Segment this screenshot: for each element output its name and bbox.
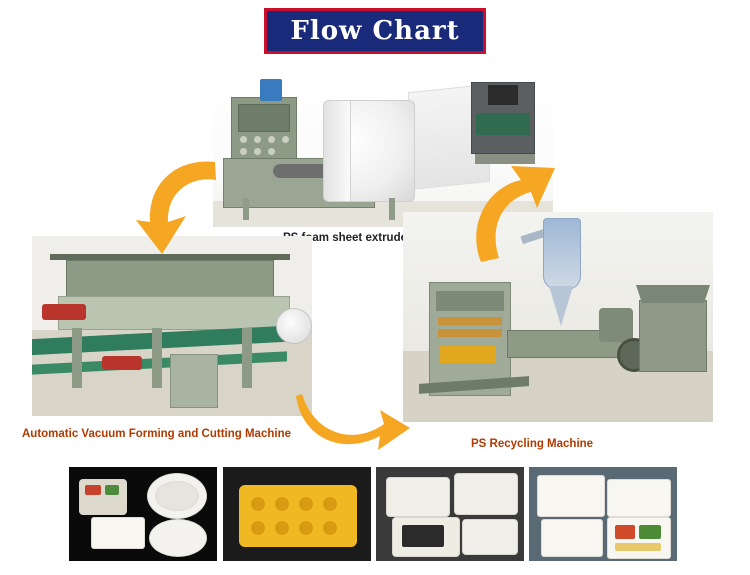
egg-cavity (299, 497, 313, 511)
food-item (85, 485, 101, 495)
product-photo-3 (375, 466, 525, 562)
recycling-button-row (438, 317, 502, 325)
extruder-knob (240, 148, 247, 155)
egg-cavity (323, 497, 337, 511)
extruder-control-panel (238, 104, 290, 132)
forming-control-box (170, 354, 218, 408)
arrow-recycling-to-extruder (455, 158, 565, 268)
tray-insert (402, 525, 444, 547)
foam-lunchbox (537, 475, 605, 517)
extruder-knob (254, 136, 261, 143)
extruder-knob (240, 136, 247, 143)
foam-food-tray (386, 477, 450, 517)
extruder-motor (488, 85, 518, 105)
foam-bowl (149, 519, 207, 557)
arrow-forming-to-recycling (292, 380, 412, 460)
product-photo-2 (222, 466, 372, 562)
photo-automatic-vacuum-forming-and-cutting-machine (32, 236, 312, 416)
forming-support-post (152, 328, 162, 388)
arrow-extruder-to-forming (120, 150, 230, 260)
foam-egg-tray (239, 485, 357, 547)
roll-core (324, 101, 351, 201)
foam-food-tray (462, 519, 518, 555)
recycling-control-screen (436, 291, 504, 311)
extruder-green-panel (476, 113, 530, 135)
foam-plate-divider (155, 481, 199, 511)
extruder-knob (268, 148, 275, 155)
foam-lunchbox (541, 519, 603, 557)
recycling-yellow-panel (440, 345, 496, 363)
egg-cavity (251, 497, 265, 511)
recycling-crusher (639, 300, 707, 372)
forming-mould-bed (58, 296, 290, 330)
recycling-motor (599, 308, 633, 342)
forming-sheet-spool (276, 308, 312, 344)
extruder-legs (243, 198, 395, 220)
foam-sheet-roll (323, 100, 415, 202)
forming-red-roller (102, 356, 142, 370)
foam-lunchbox (607, 479, 671, 517)
extruder-knob (282, 136, 289, 143)
extruder-knob (268, 136, 275, 143)
caption-recycling: PS Recycling Machine (471, 438, 593, 450)
food-item (615, 543, 661, 551)
food-item (639, 525, 661, 539)
forming-red-roller (42, 304, 86, 320)
extruder-knob (254, 148, 261, 155)
egg-cavity (299, 521, 313, 535)
forming-support-post (242, 328, 252, 388)
foam-lunchbox (91, 517, 145, 549)
recycling-crusher-hopper (636, 285, 710, 303)
egg-cavity (323, 521, 337, 535)
page-title: Flow Chart (290, 16, 459, 46)
page-title-box: Flow Chart (264, 8, 486, 54)
extruder-head-unit (471, 82, 535, 154)
product-photo-4 (528, 466, 678, 562)
extruder-hopper (260, 79, 282, 101)
recycling-button-row (438, 329, 502, 337)
extruder-control-cabinet (231, 97, 297, 159)
foam-food-tray (454, 473, 518, 515)
food-item (105, 485, 119, 495)
recycling-cyclone-cone (549, 286, 573, 326)
forming-support-post (72, 328, 82, 388)
forming-gantry (66, 260, 274, 298)
flow-chart-page: Flow Chart PS foam sheet extruder machin… (0, 0, 750, 575)
product-photo-1 (68, 466, 218, 562)
egg-cavity (275, 497, 289, 511)
caption-forming: Automatic Vacuum Forming and Cutting Mac… (22, 428, 291, 440)
egg-cavity (251, 521, 265, 535)
egg-cavity (275, 521, 289, 535)
food-item (615, 525, 635, 539)
